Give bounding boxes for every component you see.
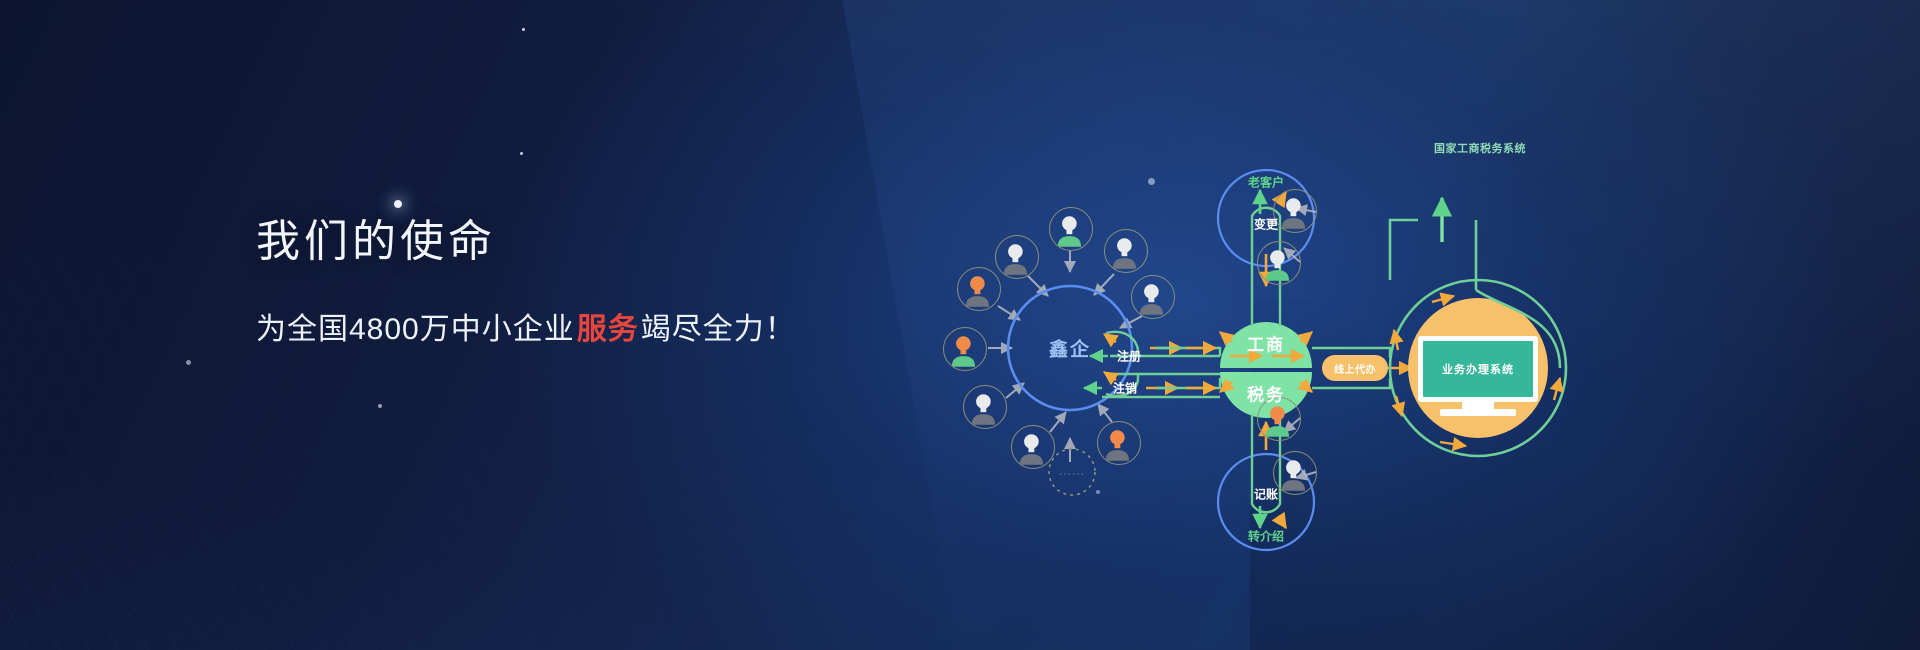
system-screen-label: 业务办理系统	[1442, 361, 1514, 377]
decor-star	[520, 152, 523, 155]
referral-label: 转介绍	[1248, 528, 1284, 545]
decor-star	[378, 404, 382, 408]
page-subtitle: 为全国4800万中小企业服务竭尽全力！	[256, 304, 956, 348]
person-icon	[1098, 422, 1137, 461]
person-icon	[1132, 276, 1171, 315]
person-icon	[1050, 208, 1089, 247]
subtitle-highlight: 服务	[575, 313, 641, 346]
customer-avatar	[1257, 397, 1301, 441]
subtitle-part-before: 为全国4800万中小企业	[256, 313, 575, 346]
core-company-circle	[1008, 286, 1132, 410]
customer-avatar	[1097, 421, 1141, 465]
more-customers-circle	[1049, 449, 1095, 495]
person-icon	[958, 268, 997, 307]
person-icon	[1258, 398, 1297, 437]
customer-avatar	[1131, 275, 1175, 319]
customer-avatar	[963, 385, 1007, 429]
customer-avatar	[995, 235, 1039, 279]
person-icon	[996, 236, 1035, 275]
gov-node-top-half	[1220, 322, 1312, 368]
monitor-base	[1440, 409, 1516, 416]
service-flow-diagram: 业务办理系统 线上代办 鑫企 注册 注销 工商 税务 老客户 变更 记账 转介绍…	[920, 150, 1540, 510]
person-icon	[1105, 230, 1144, 269]
online-agency-pill[interactable]: 线上代办	[1322, 355, 1388, 381]
person-icon	[944, 328, 983, 367]
customer-avatar	[1273, 189, 1317, 233]
customer-avatar	[1104, 229, 1148, 273]
person-icon	[1274, 452, 1313, 491]
subtitle-part-after: 竭尽全力！	[641, 313, 796, 346]
trunk-arrows	[1186, 348, 1216, 388]
customer-avatar	[1011, 425, 1055, 469]
customer-avatar	[1273, 451, 1317, 495]
person-icon	[1258, 242, 1297, 281]
decor-star	[522, 28, 525, 31]
hero-copy: 我们的使命 为全国4800万中小企业服务竭尽全力！	[256, 218, 956, 348]
hero-banner: 我们的使命 为全国4800万中小企业服务竭尽全力！	[0, 0, 1920, 650]
customer-avatar	[957, 267, 1001, 311]
online-agency-label: 线上代办	[1334, 361, 1376, 376]
decor-star	[394, 200, 402, 208]
person-icon	[964, 386, 1003, 425]
monitor-screen: 业务办理系统	[1423, 341, 1533, 397]
customer-avatar	[1049, 207, 1093, 251]
bg-facet-4	[0, 330, 700, 650]
person-icon	[1274, 190, 1313, 229]
page-title: 我们的使命	[256, 218, 956, 266]
trunk-lines	[1156, 348, 1220, 388]
person-icon	[1012, 426, 1051, 465]
customer-avatar	[943, 327, 987, 371]
register-flow	[1106, 332, 1220, 356]
decor-star	[186, 360, 191, 365]
system-monitor: 业务办理系统	[1418, 336, 1538, 402]
monitor-stand	[1462, 402, 1494, 409]
customer-avatar	[1257, 241, 1301, 285]
